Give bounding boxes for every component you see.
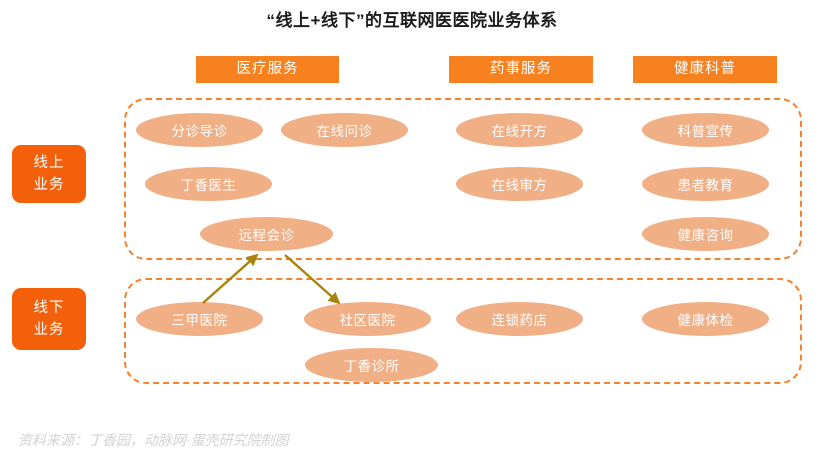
column-header-medical-service: 医疗服务 <box>196 56 339 83</box>
pill-online-group-5: 在线审方 <box>456 167 583 201</box>
row-label-offline-line1: 线下 <box>34 297 65 319</box>
pill-offline-group-1: 社区医院 <box>304 302 431 336</box>
pill-offline-group-4: 丁香诊所 <box>305 348 438 382</box>
pill-offline-group-0: 三甲医院 <box>136 302 263 336</box>
row-label-online-line2: 业务 <box>34 174 65 196</box>
row-label-offline-line2: 业务 <box>34 319 65 341</box>
pill-offline-group-3: 健康体检 <box>642 302 769 336</box>
pill-online-group-7: 远程会诊 <box>200 217 333 251</box>
pill-online-group-4: 丁香医生 <box>145 167 272 201</box>
column-header-pharmacy-service: 药事服务 <box>449 56 593 83</box>
pill-offline-group-2: 连锁药店 <box>456 302 583 336</box>
infographic-canvas: “线上+线下”的互联网医医院业务体系 医疗服务 药事服务 健康科普 线上 业务 … <box>0 0 824 464</box>
pill-online-group-1: 在线问诊 <box>281 113 408 147</box>
row-label-online-business: 线上 业务 <box>12 145 86 203</box>
pill-online-group-2: 在线开方 <box>456 113 583 147</box>
page-title: “线上+线下”的互联网医医院业务体系 <box>0 6 824 31</box>
column-header-health-education: 健康科普 <box>633 56 777 83</box>
row-label-offline-business: 线下 业务 <box>12 288 86 350</box>
pill-online-group-6: 患者教育 <box>642 167 769 201</box>
pill-online-group-0: 分诊导诊 <box>136 113 263 147</box>
pill-online-group-8: 健康咨询 <box>642 217 769 251</box>
pill-online-group-3: 科普宣传 <box>642 113 769 147</box>
source-note: 资料来源：丁香园，动脉网·蛋壳研究院制图 <box>18 430 289 450</box>
row-label-online-line1: 线上 <box>34 152 65 174</box>
